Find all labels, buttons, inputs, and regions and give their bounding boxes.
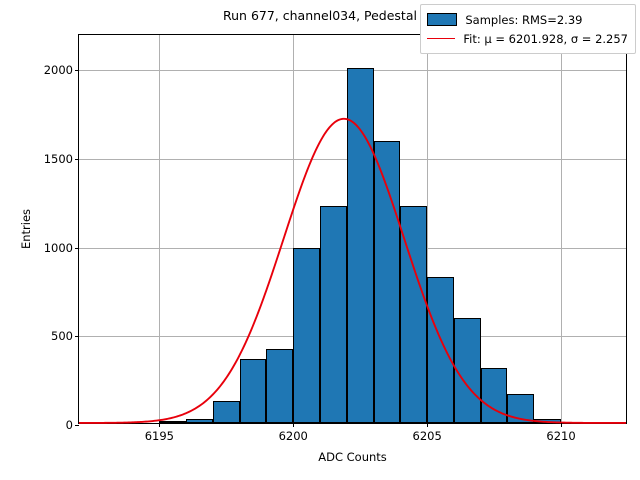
x-tick-mark bbox=[159, 423, 160, 427]
y-tick-label: 500 bbox=[51, 329, 73, 343]
legend-line-fit-icon bbox=[427, 38, 455, 39]
x-tick-label: 6200 bbox=[279, 429, 308, 443]
fit-curve-path bbox=[79, 119, 626, 423]
chart-legend: Samples: RMS=2.39 Fit: μ = 6201.928, σ =… bbox=[420, 4, 636, 54]
x-axis-label: ADC Counts bbox=[78, 450, 627, 464]
x-tick-mark bbox=[293, 423, 294, 427]
x-tick-label: 6210 bbox=[546, 429, 575, 443]
x-tick-mark bbox=[427, 423, 428, 427]
y-tick-label: 0 bbox=[66, 418, 73, 432]
x-tick-label: 6195 bbox=[145, 429, 174, 443]
y-tick-mark bbox=[75, 425, 79, 426]
figure-canvas: Run 677, channel034, Pedestal 0500100015… bbox=[0, 0, 640, 480]
legend-swatch-samples-icon bbox=[427, 13, 457, 26]
x-tick-label: 6205 bbox=[413, 429, 442, 443]
y-tick-mark bbox=[75, 70, 79, 71]
legend-item-fit: Fit: μ = 6201.928, σ = 2.257 bbox=[427, 29, 628, 48]
y-tick-label: 2000 bbox=[44, 63, 73, 77]
y-tick-label: 1000 bbox=[44, 241, 73, 255]
y-tick-mark bbox=[75, 336, 79, 337]
y-tick-mark bbox=[75, 159, 79, 160]
legend-label-fit: Fit: μ = 6201.928, σ = 2.257 bbox=[463, 32, 628, 46]
gaussian-fit-curve bbox=[79, 35, 626, 423]
x-tick-mark bbox=[561, 423, 562, 427]
plot-area: 05001000150020006195620062056210 bbox=[78, 34, 627, 424]
y-tick-label: 1500 bbox=[44, 152, 73, 166]
y-tick-mark bbox=[75, 248, 79, 249]
y-axis-label: Entries bbox=[19, 209, 33, 249]
legend-label-samples: Samples: RMS=2.39 bbox=[465, 13, 582, 27]
legend-item-samples: Samples: RMS=2.39 bbox=[427, 10, 628, 29]
